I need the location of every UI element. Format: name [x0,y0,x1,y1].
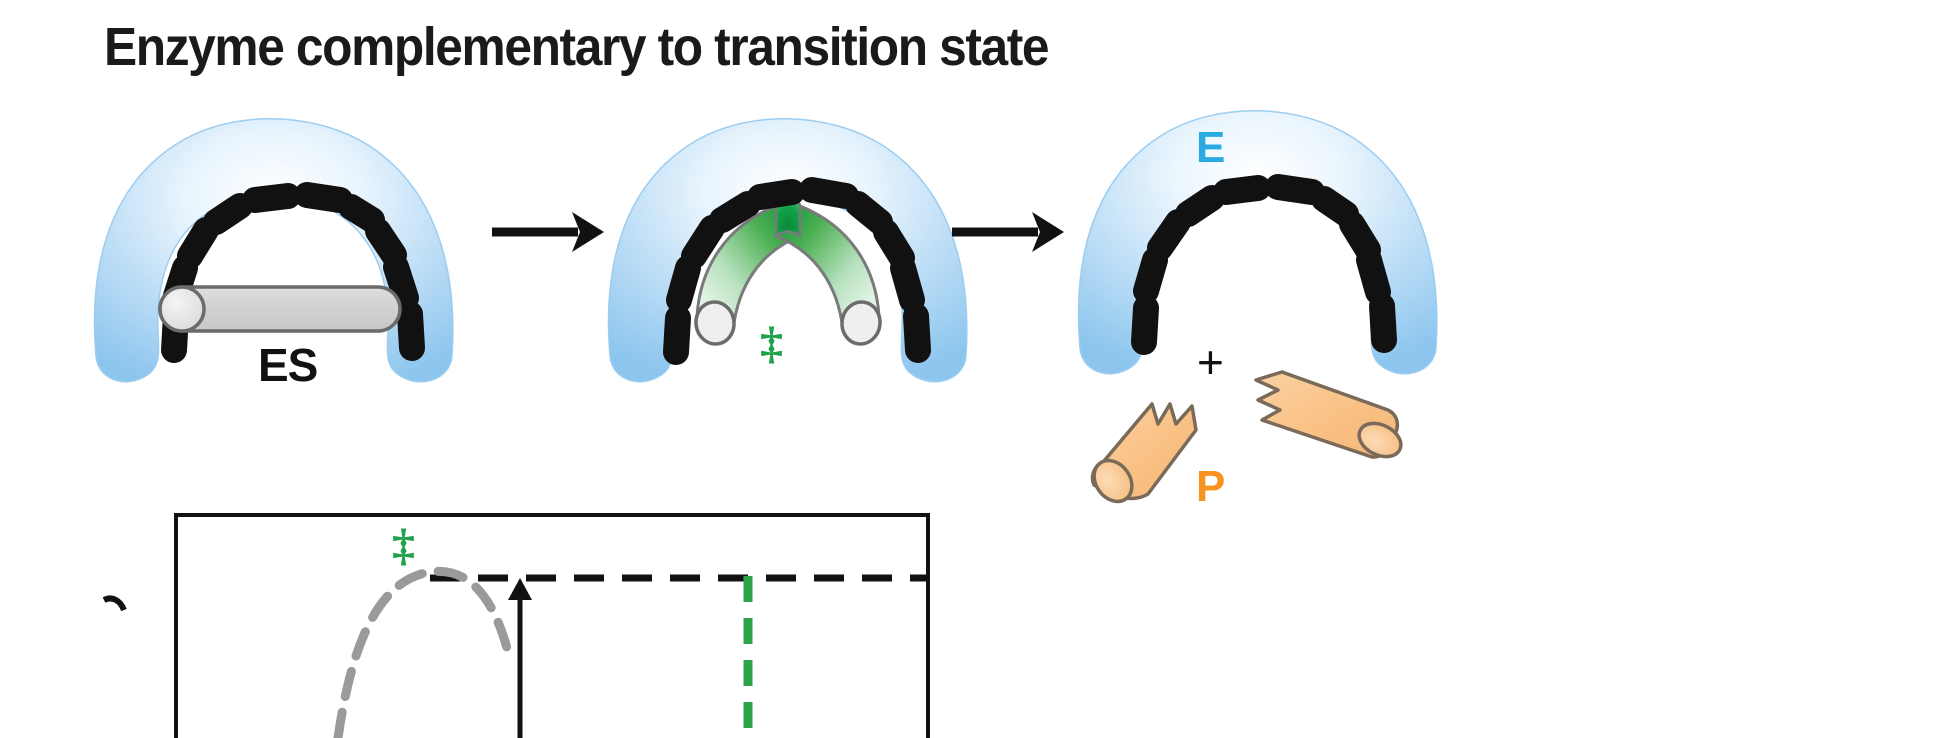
energy-diagram-cropped [104,515,928,738]
panel-transition-state [609,119,967,382]
label-enzyme-e: E [1196,123,1225,173]
figure-canvas: Enzyme complementary to transition state [0,0,1956,738]
enzyme-body-2 [609,119,967,382]
label-double-dagger-transition-state: ‡ [760,316,783,369]
label-es: ES [258,338,317,392]
product-fragment-right [1256,372,1406,463]
substrate-rod-1 [160,287,400,331]
enzyme-body-3 [1079,111,1437,374]
active-site-residues-2 [676,190,918,352]
arrow-1 [492,212,604,252]
panel-products [1079,111,1437,509]
active-site-residues-1 [174,195,412,350]
active-site-residues-3 [1144,187,1384,342]
arrow-2 [952,212,1064,252]
label-plus-sign: + [1197,335,1224,389]
product-fragment-left [1086,404,1196,509]
transition-state-substrate [693,201,882,347]
figure-title: Enzyme complementary to transition state [104,16,1048,78]
label-double-dagger-graph: ‡ [392,518,415,571]
label-product-p: P [1196,462,1225,512]
